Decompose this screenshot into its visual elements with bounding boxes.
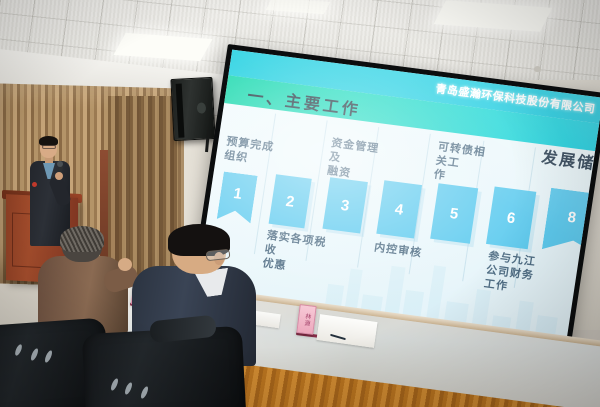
slide-label-below-1: 落实各项税收 优惠 — [262, 230, 330, 279]
slide-step-4: 4 — [376, 180, 422, 238]
nameplate-3: 林源 — [296, 304, 316, 335]
slide-step-1: 1 — [217, 172, 258, 224]
audience-member-1-hand — [118, 258, 132, 271]
slide-step-2: 2 — [269, 174, 312, 228]
slide-step-3: 3 — [322, 177, 367, 233]
ceiling-sensor-icon — [534, 66, 541, 72]
speaker-cone — [197, 102, 207, 113]
slide-label-above-1: 预算完成组织 — [223, 136, 275, 169]
slide-step-6: 6 — [486, 187, 536, 250]
presenter-glasses — [42, 145, 56, 149]
presenter-badge — [32, 182, 37, 187]
conference-room-scene: 青岛盛瀚环保科技股份有限公司 一、主要工作 — [0, 0, 600, 407]
slide-label-below-3: 参与九江 公司财务 工作 — [483, 250, 541, 297]
slide-label-above-3: 可转债相关工 作 — [433, 141, 495, 189]
slide-step-8-number: 8 — [566, 209, 577, 227]
microphone-head — [57, 161, 63, 167]
slide-label-above-4: 发展储备人员 — [540, 148, 600, 182]
audience-member-1-hair — [60, 226, 104, 252]
slide-step-5: 5 — [430, 183, 478, 244]
presenter-hand — [55, 172, 63, 180]
speaker-slot — [176, 84, 185, 138]
